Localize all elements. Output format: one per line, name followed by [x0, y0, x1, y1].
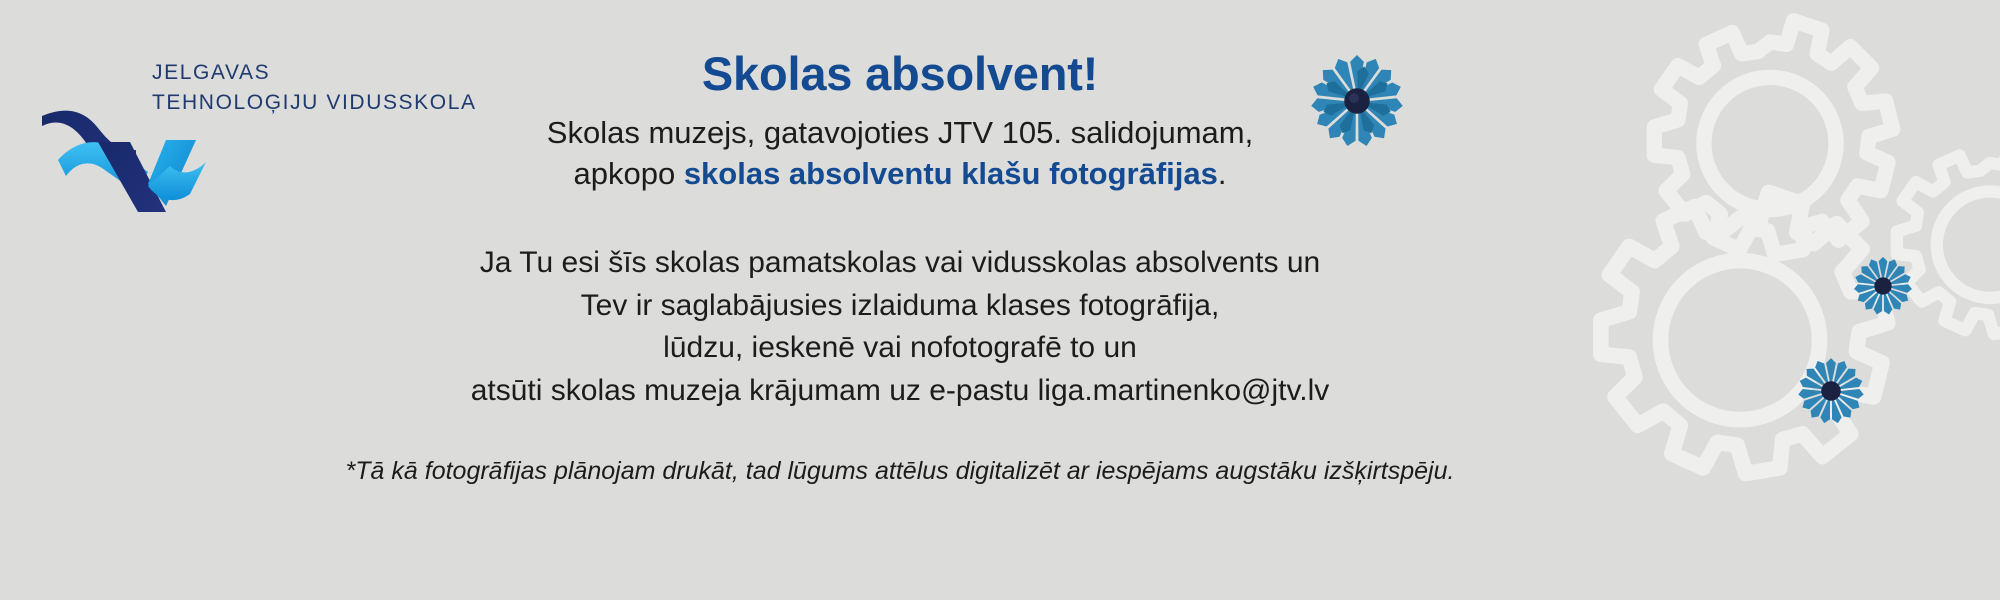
body-line-3: lūdzu, ieskenē vai nofotografē to un — [471, 327, 1330, 370]
body-line-2: Tev ir saglabājusies izlaiduma klases fo… — [471, 285, 1330, 328]
lead-line-2-highlight: skolas absolventu klašu fotogrāfijas — [684, 156, 1218, 191]
page-title: Skolas absolvent! — [702, 48, 1098, 100]
jtv-wave-logo-mark — [40, 98, 230, 218]
poster-canvas: JELGAVAS TEHNOLOĢIJU VIDUSSKOLA — [0, 0, 2000, 600]
footnote: *Tā kā fotogrāfijas plānojam drukāt, tad… — [346, 455, 1455, 488]
lead-line-2-prefix: apkopo — [573, 156, 683, 191]
lead-line-2: apkopo skolas absolventu klašu fotogrāfi… — [547, 153, 1253, 194]
gear-large-bottom — [1601, 192, 1888, 473]
lead-paragraph: Skolas muzejs, gatavojoties JTV 105. sal… — [547, 112, 1253, 194]
body-paragraph: Ja Tu esi šīs skolas pamatskolas vai vid… — [471, 242, 1330, 412]
announcement-content: Skolas absolvent! Skolas muzejs, gatavoj… — [240, 0, 1560, 600]
lead-line-2-suffix: . — [1218, 156, 1227, 191]
cornflower-middle-icon — [1852, 255, 1914, 317]
gear-large-top — [1654, 21, 1892, 255]
body-line-4-with-email: atsūti skolas muzeja krājumam uz e-pastu… — [471, 370, 1330, 413]
body-line-1: Ja Tu esi šīs skolas pamatskolas vai vid… — [471, 242, 1330, 285]
lead-line-1: Skolas muzejs, gatavojoties JTV 105. sal… — [547, 112, 1253, 153]
cornflower-bottom-icon — [1796, 356, 1866, 426]
